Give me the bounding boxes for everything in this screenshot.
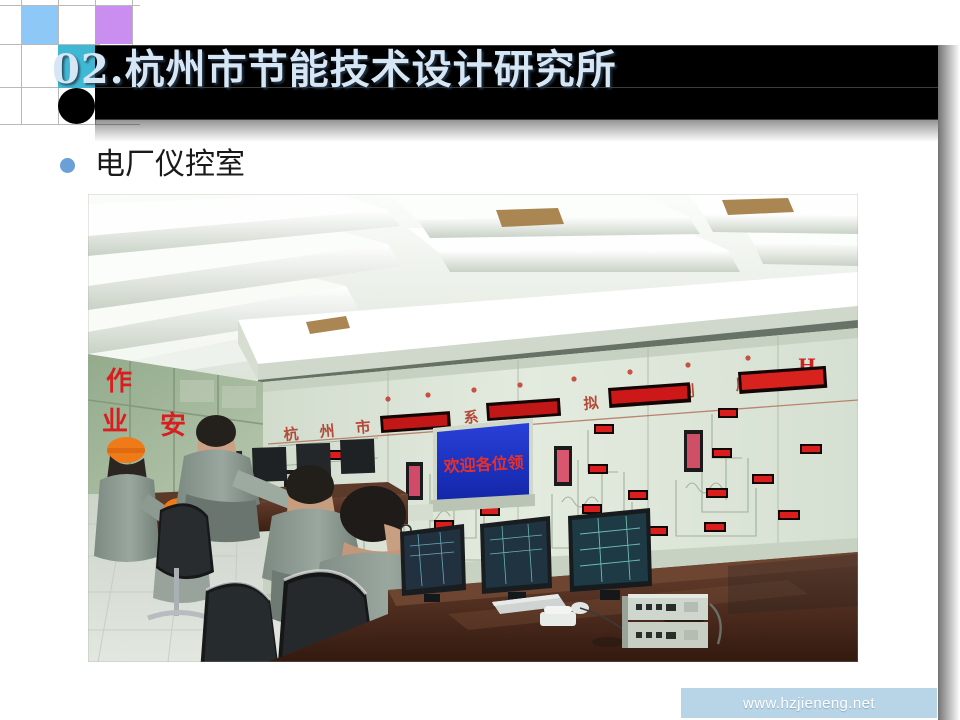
svg-text:杭: 杭 xyxy=(283,425,299,444)
control-room-photo: 作 业 安 杭 州 市 热 电 xyxy=(88,194,858,662)
svg-text:市: 市 xyxy=(355,418,371,437)
title-bar-shadow-bottom xyxy=(95,120,938,142)
bullet-label: 电厂仪控室 xyxy=(95,150,245,180)
svg-text:州: 州 xyxy=(318,422,335,441)
decorative-square-purple xyxy=(95,6,132,44)
bullet-item: 电厂仪控室 xyxy=(60,150,245,180)
footer-url-text: www.hzjieneng.net xyxy=(743,695,875,712)
svg-text:作: 作 xyxy=(106,367,132,397)
slide-edge-shadow-right xyxy=(938,45,960,720)
svg-text:拟: 拟 xyxy=(583,394,599,413)
decorative-circle-black xyxy=(58,88,95,124)
control-room-illustration: 作 业 安 杭 州 市 热 电 xyxy=(88,194,858,662)
slide-canvas: 02.杭州市节能技术设计研究所 电厂仪控室 xyxy=(0,0,960,720)
svg-text:安: 安 xyxy=(160,411,186,441)
page-title: 02.杭州市节能技术设计研究所 xyxy=(52,50,617,90)
svg-text:业: 业 xyxy=(102,407,128,437)
decorative-square-blue xyxy=(21,6,58,44)
bullet-dot-icon xyxy=(60,158,75,173)
footer-url-bar[interactable]: www.hzjieneng.net xyxy=(681,688,937,718)
